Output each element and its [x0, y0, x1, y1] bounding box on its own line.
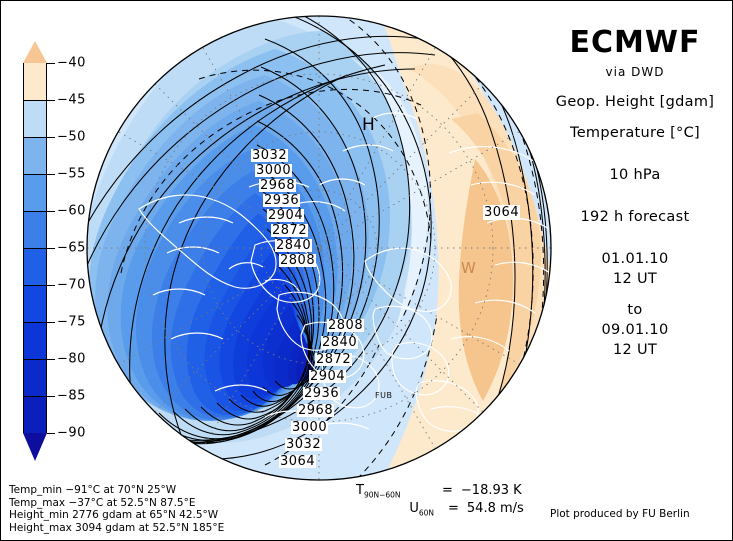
- temperature-gradient-row: T90N−60N = −18.93 K: [356, 483, 524, 500]
- colorbar-separator-5: [23, 248, 47, 249]
- contour-label: 3000: [291, 421, 328, 434]
- contour-label: 2968: [259, 179, 296, 192]
- contour-label: 2904: [309, 370, 346, 383]
- t-subscript: 90N−60N: [364, 490, 401, 499]
- contour-label: 2872: [271, 224, 308, 237]
- chart-page: −40−45−50−55−60−65−70−75−80−85−90: [0, 0, 733, 541]
- time-to: 12 UT: [537, 342, 733, 358]
- stat-temp-min: Temp_min −91°C at 70°N 25°W: [9, 484, 224, 497]
- contour-label: 3000: [255, 164, 292, 177]
- contour-label: 2936: [263, 194, 300, 207]
- colorbar-band-9: [23, 396, 47, 433]
- t-equals: =: [442, 483, 453, 498]
- colorbar-band-7: [23, 322, 47, 359]
- colorbar-separator-9: [23, 396, 47, 397]
- contour-label: 2840: [275, 239, 312, 252]
- pressure-level: 10 hPa: [537, 167, 733, 183]
- polar-stereographic-map: H W FUB 30323000296829362904287228402808…: [79, 9, 559, 487]
- colorbar-separator-3: [23, 174, 47, 175]
- field-geopotential-height: Geop. Height [gdam]: [537, 94, 733, 110]
- plot-credit: Plot produced by FU Berlin: [550, 508, 690, 520]
- contour-label: 3032: [251, 149, 288, 162]
- contour-label: 2936: [303, 387, 340, 400]
- colorbar-band-2: [23, 137, 47, 174]
- contour-label-right: 3064: [483, 205, 520, 220]
- contour-label: 2872: [315, 353, 352, 366]
- contour-label: 3032: [285, 438, 322, 451]
- high-pressure-marker: H: [362, 115, 375, 135]
- u-symbol-with-subscript: U60N: [356, 501, 440, 518]
- contour-label: 2808: [279, 254, 316, 267]
- colorbar-tick-8: [47, 359, 55, 360]
- contour-label: 2904: [267, 209, 304, 222]
- forecast-range: 192 h forecast: [537, 209, 733, 225]
- derived-values-block: T90N−60N = −18.93 K U60N = 54.8 m/s: [356, 483, 524, 520]
- colorbar-band-1: [23, 100, 47, 137]
- u-equals: =: [448, 501, 459, 516]
- contour-label: 2808: [327, 319, 364, 332]
- colorbar-tick-7: [47, 322, 55, 323]
- time-from: 12 UT: [537, 271, 733, 287]
- colorbar-tick-6: [47, 285, 55, 286]
- contour-label: 2840: [321, 336, 358, 349]
- colorbar-tick-5: [47, 248, 55, 249]
- colorbar-band-8: [23, 359, 47, 396]
- colorbar-band-3: [23, 174, 47, 211]
- colorbar-band-5: [23, 248, 47, 285]
- colorbar-band-6: [23, 285, 47, 322]
- colorbar-separator-6: [23, 285, 47, 286]
- temperature-colorbar: −40−45−50−55−60−65−70−75−80−85−90: [23, 63, 47, 433]
- colorbar-tick-0: [47, 63, 55, 64]
- contour-label: 3064: [279, 455, 316, 468]
- warm-marker: W: [461, 259, 476, 277]
- t-symbol: T: [356, 483, 364, 498]
- colorbar-band-0: [23, 63, 47, 100]
- institute-title: ECMWF: [537, 25, 733, 60]
- colorbar-tick-4: [47, 211, 55, 212]
- range-to-label: to: [537, 302, 733, 318]
- field-temperature: Temperature [°C]: [537, 125, 733, 141]
- stat-temp-max: Temp_max −37°C at 52.5°N 87.5°E: [9, 497, 224, 510]
- colorbar-top-arrow: [23, 41, 47, 63]
- info-panel: ECMWF via DWD Geop. Height [gdam] Temper…: [537, 15, 733, 358]
- date-from: 01.01.10: [537, 251, 733, 267]
- u-value: 54.8 m/s: [467, 501, 524, 516]
- colorbar-bottom-arrow: [23, 433, 47, 461]
- colorbar-separator-4: [23, 211, 47, 212]
- colorbar-tick-1: [47, 100, 55, 101]
- colorbar-tick-3: [47, 174, 55, 175]
- u-symbol: U: [409, 501, 419, 516]
- colorbar-separator-7: [23, 322, 47, 323]
- contour-label: 2968: [297, 404, 334, 417]
- stat-height-max: Height_max 3094 gdam at 52.5°N 185°E: [9, 522, 224, 535]
- colorbar-tick-9: [47, 396, 55, 397]
- stat-height-min: Height_min 2776 gdam at 65°N 42.5°W: [9, 509, 224, 522]
- statistics-block: Temp_min −91°C at 70°N 25°W Temp_max −37…: [9, 484, 224, 534]
- colorbar-separator-2: [23, 137, 47, 138]
- t-symbol-with-subscript: T90N−60N: [356, 483, 434, 500]
- source-subtitle: via DWD: [537, 65, 733, 79]
- fub-watermark: FUB: [375, 391, 392, 400]
- colorbar-separator-1: [23, 100, 47, 101]
- colorbar-separator-8: [23, 359, 47, 360]
- colorbar-tick-10: [47, 433, 55, 434]
- t-value: −18.93 K: [461, 483, 522, 498]
- zonal-wind-row: U60N = 54.8 m/s: [356, 501, 524, 518]
- colorbar-band-4: [23, 211, 47, 248]
- u-subscript: 60N: [419, 509, 434, 518]
- date-to: 09.01.10: [537, 322, 733, 338]
- colorbar-tick-2: [47, 137, 55, 138]
